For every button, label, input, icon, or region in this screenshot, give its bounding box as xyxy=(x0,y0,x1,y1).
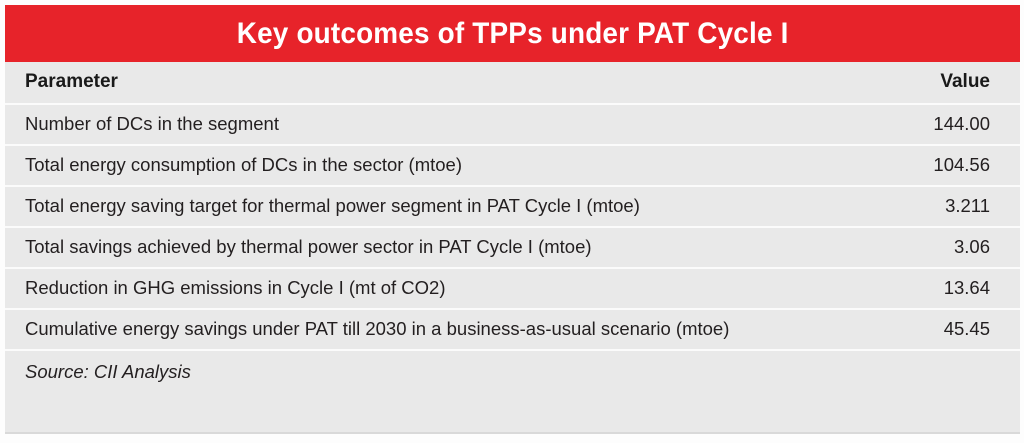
row-parameter: Reduction in GHG emissions in Cycle I (m… xyxy=(20,278,900,298)
row-parameter: Total savings achieved by thermal power … xyxy=(20,237,900,257)
row-parameter: Number of DCs in the segment xyxy=(20,114,900,134)
row-parameter: Total energy saving target for thermal p… xyxy=(20,196,900,216)
table-header-row: Parameter Value xyxy=(5,62,1020,105)
row-parameter: Cumulative energy savings under PAT till… xyxy=(20,319,900,339)
row-parameter: Total energy consumption of DCs in the s… xyxy=(20,155,900,175)
row-value: 45.45 xyxy=(900,319,990,339)
row-value: 144.00 xyxy=(900,114,990,134)
outcomes-table-card: Key outcomes of TPPs under PAT Cycle I P… xyxy=(0,0,1024,443)
table-title-banner: Key outcomes of TPPs under PAT Cycle I xyxy=(5,5,1020,62)
table-body: Parameter Value Number of DCs in the seg… xyxy=(5,62,1020,433)
row-value: 104.56 xyxy=(900,155,990,175)
row-value: 13.64 xyxy=(900,278,990,298)
table-row: Number of DCs in the segment 144.00 xyxy=(5,105,1020,146)
column-header-parameter: Parameter xyxy=(20,72,900,93)
row-value: 3.06 xyxy=(900,237,990,257)
column-header-value: Value xyxy=(900,72,990,93)
table-source-row: Source: CII Analysis xyxy=(5,351,1020,393)
source-note: Source: CII Analysis xyxy=(20,361,191,383)
page-title: Key outcomes of TPPs under PAT Cycle I xyxy=(237,17,789,51)
table-row: Cumulative energy savings under PAT till… xyxy=(5,310,1020,351)
row-value: 3.211 xyxy=(900,196,990,216)
table-row: Total energy consumption of DCs in the s… xyxy=(5,146,1020,187)
table-row: Total savings achieved by thermal power … xyxy=(5,228,1020,269)
bottom-divider xyxy=(5,432,1020,434)
table-row: Total energy saving target for thermal p… xyxy=(5,187,1020,228)
table-row: Reduction in GHG emissions in Cycle I (m… xyxy=(5,269,1020,310)
